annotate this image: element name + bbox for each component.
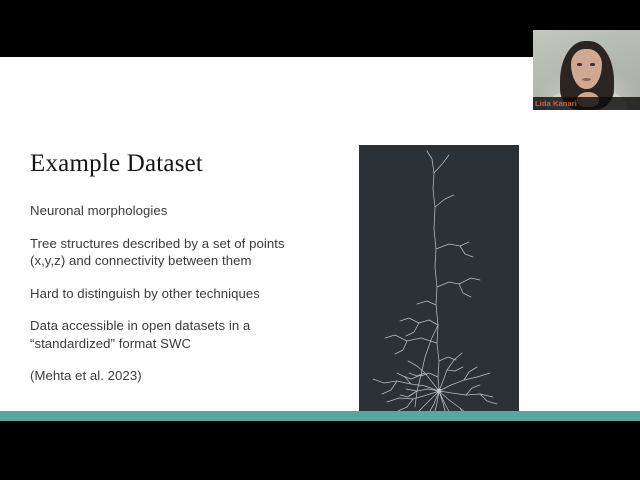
slide-body-text: Neuronal morphologies Tree structures de…: [30, 202, 322, 385]
participant-name-label: Lida Kanari: [535, 98, 577, 109]
neuron-morphology-figure: [359, 145, 519, 421]
participant-mouth: [582, 78, 591, 81]
webcam-participant-tile[interactable]: Lida Kanari: [533, 30, 640, 110]
slide-accent-stripe: [0, 411, 640, 421]
bullet-item: (Mehta et al. 2023): [30, 367, 322, 385]
neuron-trace-svg: [359, 145, 519, 421]
presentation-slide: Example Dataset Neuronal morphologies Tr…: [0, 57, 640, 421]
screen: Example Dataset Neuronal morphologies Tr…: [0, 0, 640, 480]
bullet-item: Data accessible in open datasets in a “s…: [30, 317, 322, 352]
bullet-item: Hard to distinguish by other techniques: [30, 285, 322, 303]
participant-eye-right: [590, 63, 595, 66]
bullet-item: Neuronal morphologies: [30, 202, 322, 220]
letterbox-bottom: [0, 421, 640, 480]
bullet-item: Tree structures described by a set of po…: [30, 235, 322, 270]
page-title: Example Dataset: [30, 150, 203, 178]
participant-eye-left: [577, 63, 582, 66]
